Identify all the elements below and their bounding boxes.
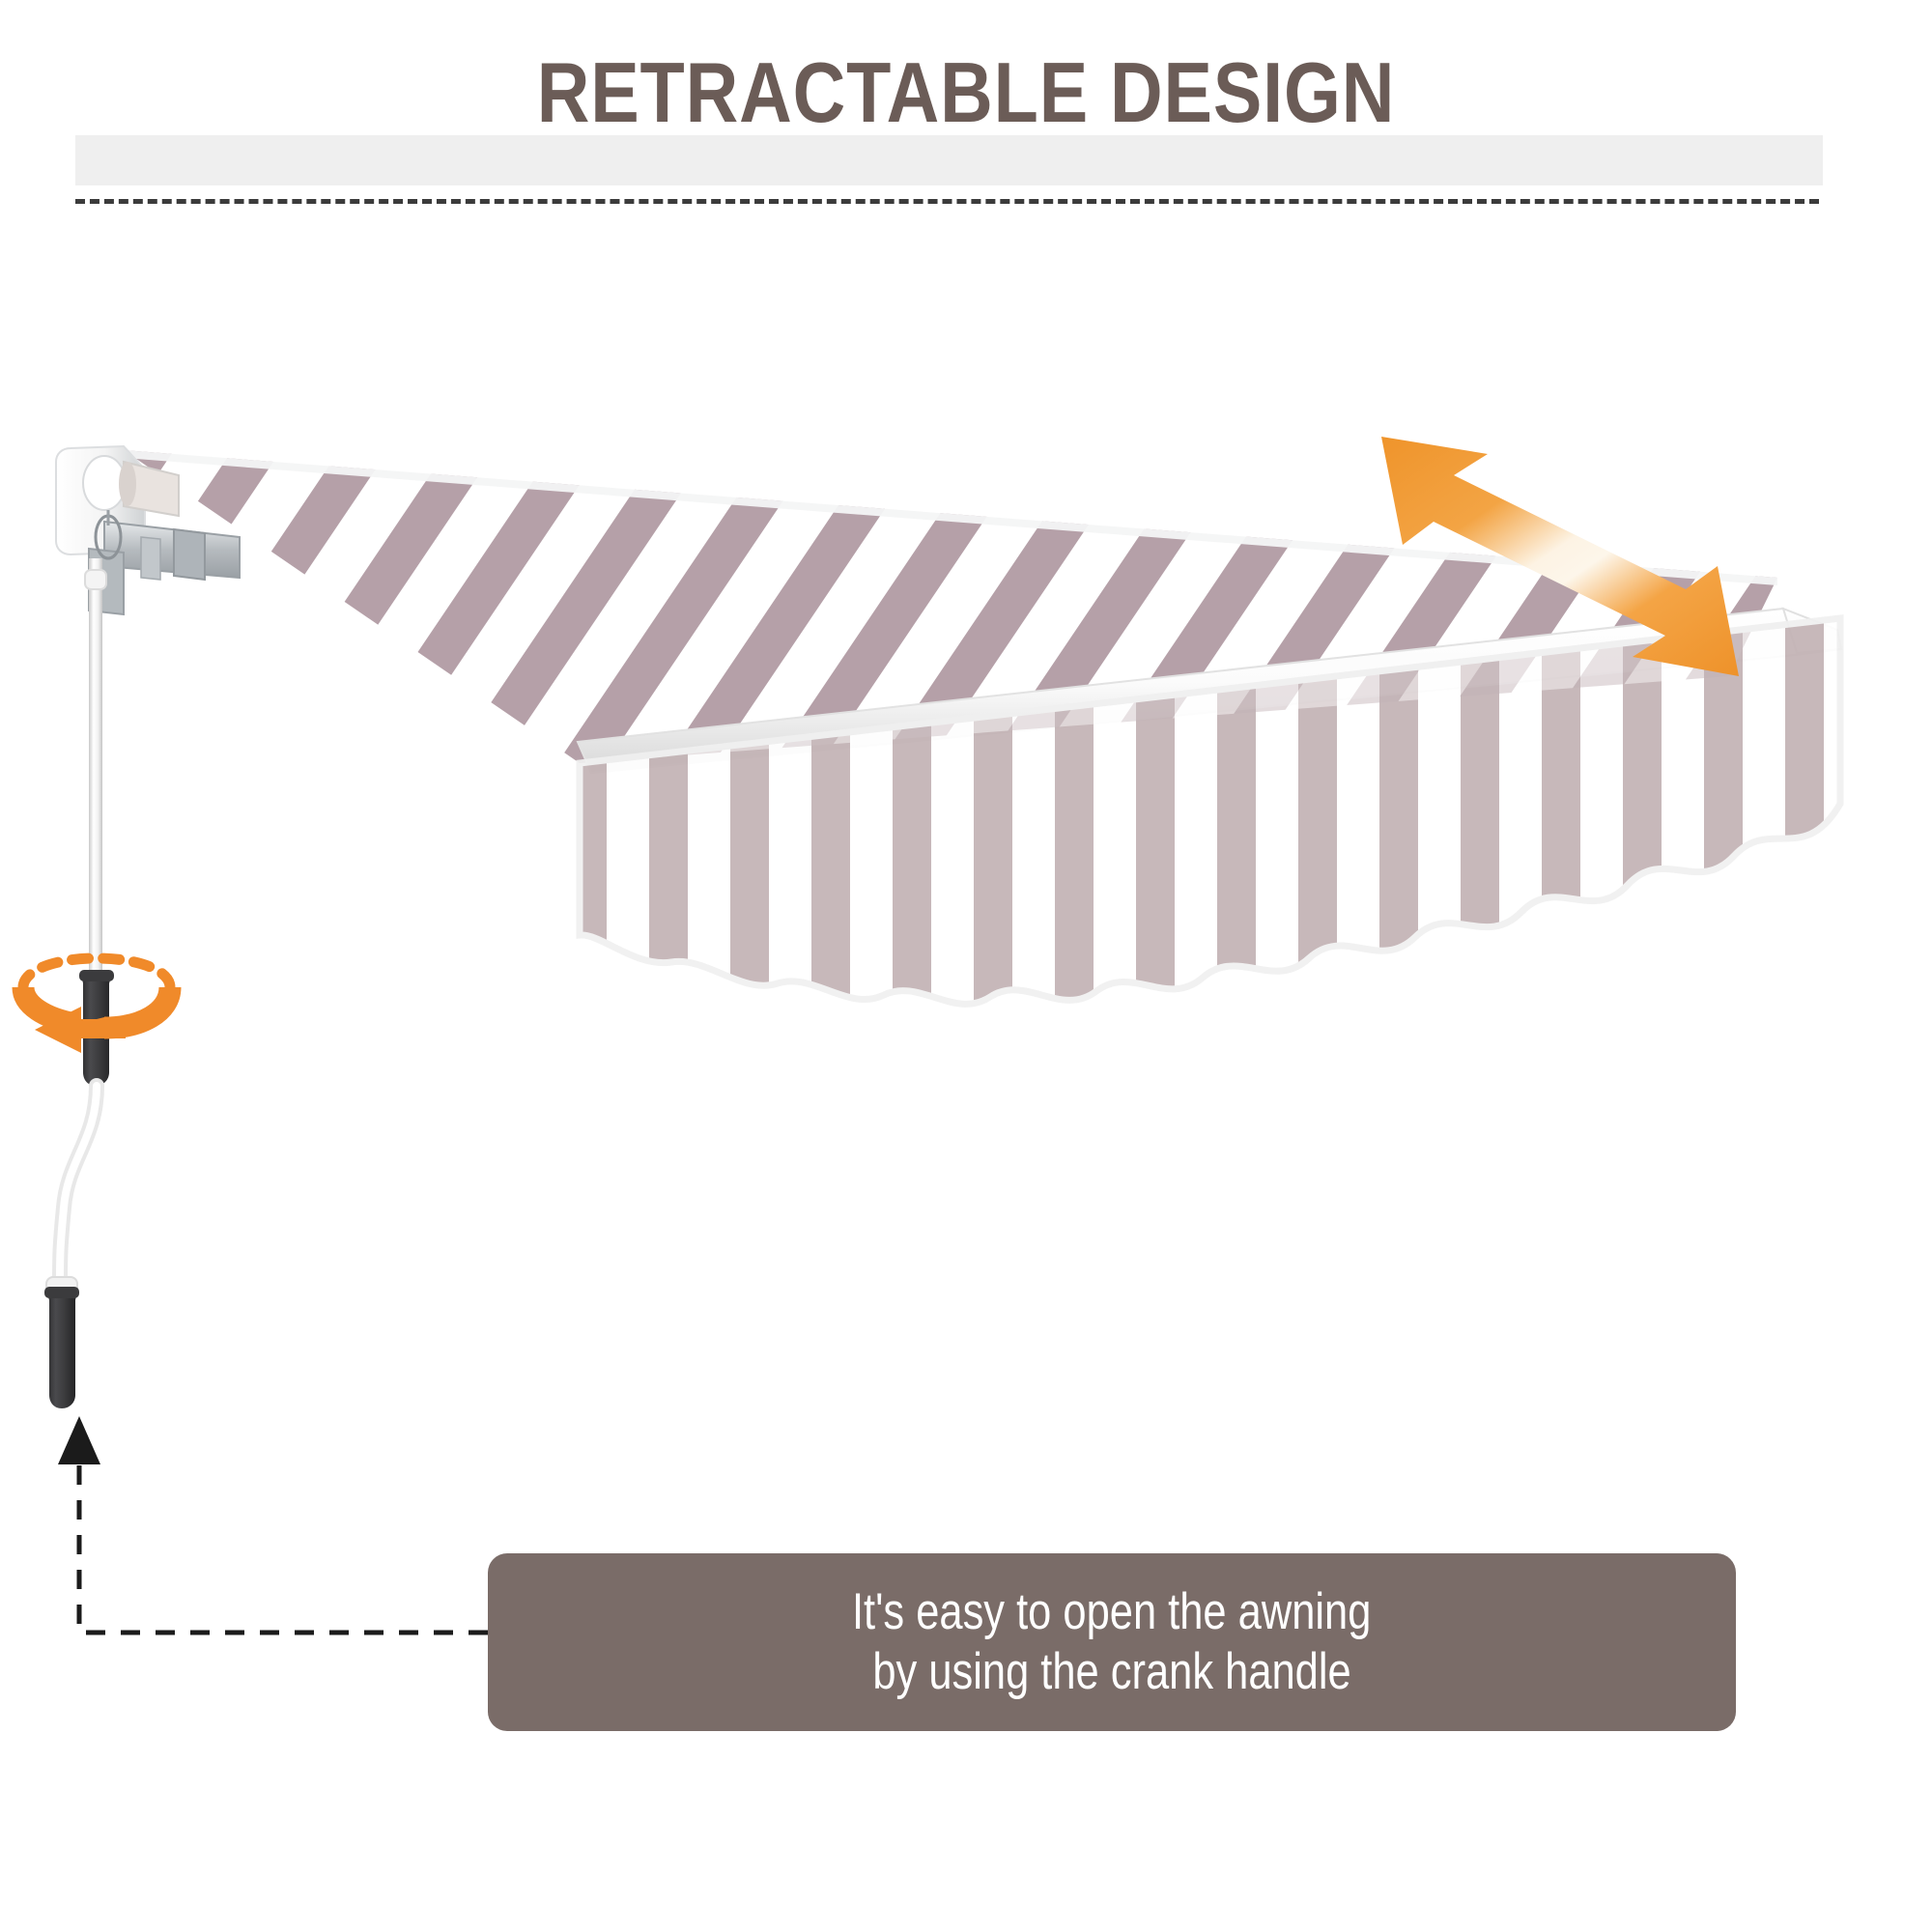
crank-callout-leader	[58, 1416, 488, 1633]
callout-box: It's easy to open the awning by using th…	[488, 1553, 1736, 1731]
callout-line-2: by using the crank handle	[872, 1642, 1350, 1702]
crank-handle	[44, 558, 114, 1408]
crank-lower-grip	[44, 1287, 79, 1408]
callout-line-1: It's easy to open the awning	[852, 1582, 1371, 1642]
infographic-canvas: RETRACTABLE DESIGN	[0, 0, 1932, 1932]
leader-arrowhead	[58, 1416, 100, 1464]
